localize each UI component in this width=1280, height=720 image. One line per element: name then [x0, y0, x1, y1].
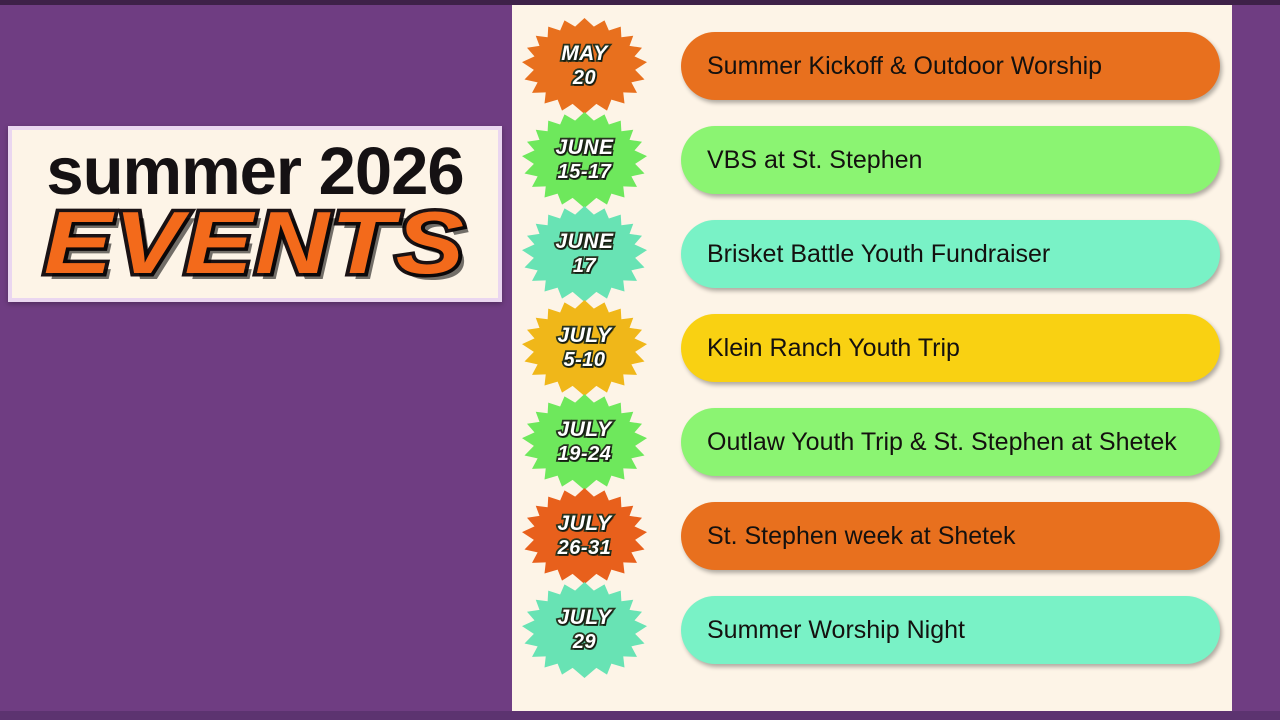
date-starburst-badge: JULY29 [522, 582, 647, 678]
date-starburst-badge: JULY26-31 [522, 488, 647, 584]
title-line-secondary: EVENTS [44, 199, 466, 287]
event-title: Brisket Battle Youth Fundraiser [681, 240, 1050, 269]
badge-days: 26-31 [558, 537, 612, 560]
badge-month: JUNE [555, 136, 613, 160]
badge-month: JULY [557, 606, 611, 630]
badge-days: 19-24 [558, 443, 612, 466]
date-starburst-badge: JULY5-10 [522, 300, 647, 396]
events-panel: MAY20Summer Kickoff & Outdoor WorshipJUN… [512, 5, 1232, 711]
event-row[interactable]: JUNE15-17VBS at St. Stephen [512, 113, 1232, 207]
badge-days: 15-17 [558, 161, 612, 184]
badge-month: MAY [561, 42, 608, 66]
event-row[interactable]: JULY5-10Klein Ranch Youth Trip [512, 301, 1232, 395]
title-card: summer 2026 EVENTS [8, 126, 502, 302]
event-title: VBS at St. Stephen [681, 146, 922, 175]
date-starburst-badge: JUNE15-17 [522, 112, 647, 208]
bottom-trim-bar [0, 711, 1280, 720]
badge-days: 20 [573, 67, 596, 90]
event-row[interactable]: JULY29Summer Worship Night [512, 583, 1232, 677]
event-row[interactable]: JULY19-24Outlaw Youth Trip & St. Stephen… [512, 395, 1232, 489]
title-line-secondary-wrap: EVENTS [12, 195, 498, 291]
date-starburst-badge: JUNE17 [522, 206, 647, 302]
event-pill[interactable]: St. Stephen week at Shetek [681, 502, 1220, 570]
event-row[interactable]: JULY26-31St. Stephen week at Shetek [512, 489, 1232, 583]
event-title: Summer Kickoff & Outdoor Worship [681, 52, 1102, 81]
title-card-content: summer 2026 EVENTS [12, 130, 498, 298]
badge-days: 5-10 [563, 349, 605, 372]
event-pill[interactable]: Outlaw Youth Trip & St. Stephen at Shete… [681, 408, 1220, 476]
badge-month: JULY [557, 512, 611, 536]
event-row[interactable]: MAY20Summer Kickoff & Outdoor Worship [512, 19, 1232, 113]
event-pill[interactable]: Klein Ranch Youth Trip [681, 314, 1220, 382]
badge-days: 17 [573, 255, 596, 278]
event-title: Outlaw Youth Trip & St. Stephen at Shete… [681, 428, 1177, 457]
event-pill[interactable]: VBS at St. Stephen [681, 126, 1220, 194]
event-pill[interactable]: Summer Kickoff & Outdoor Worship [681, 32, 1220, 100]
event-title: St. Stephen week at Shetek [681, 522, 1016, 551]
badge-month: JUNE [555, 230, 613, 254]
date-starburst-badge: MAY20 [522, 18, 647, 114]
event-title: Klein Ranch Youth Trip [681, 334, 960, 363]
badge-days: 29 [573, 631, 596, 654]
event-row[interactable]: JUNE17Brisket Battle Youth Fundraiser [512, 207, 1232, 301]
event-pill[interactable]: Summer Worship Night [681, 596, 1220, 664]
badge-month: JULY [557, 324, 611, 348]
date-starburst-badge: JULY19-24 [522, 394, 647, 490]
badge-month: JULY [557, 418, 611, 442]
event-pill[interactable]: Brisket Battle Youth Fundraiser [681, 220, 1220, 288]
event-title: Summer Worship Night [681, 616, 965, 645]
slide-canvas: summer 2026 EVENTS MAY20Summer Kickoff &… [0, 0, 1280, 720]
